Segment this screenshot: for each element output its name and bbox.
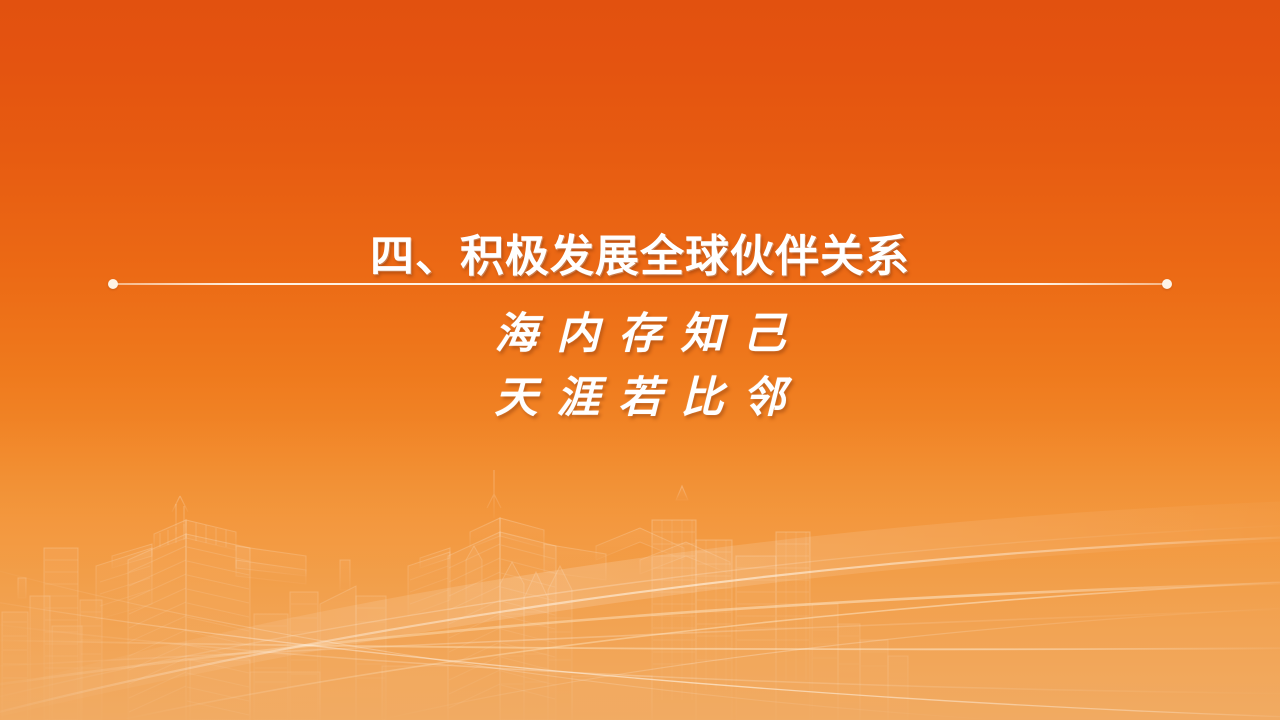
divider-dot-right-icon [1162, 279, 1172, 289]
divider-line [114, 283, 1166, 285]
slide-content: 四、积极发展全球伙伴关系 海内存知己 天涯若比邻 [0, 0, 1280, 720]
title-divider [108, 277, 1172, 291]
poem-line-2: 天涯若比邻 [0, 366, 1280, 430]
page-title: 四、积极发展全球伙伴关系 [0, 233, 1280, 281]
poem-line-1: 海内存知己 [0, 302, 1280, 366]
poem-block: 海内存知己 天涯若比邻 [0, 302, 1280, 430]
presentation-slide: 四、积极发展全球伙伴关系 海内存知己 天涯若比邻 [0, 0, 1280, 720]
